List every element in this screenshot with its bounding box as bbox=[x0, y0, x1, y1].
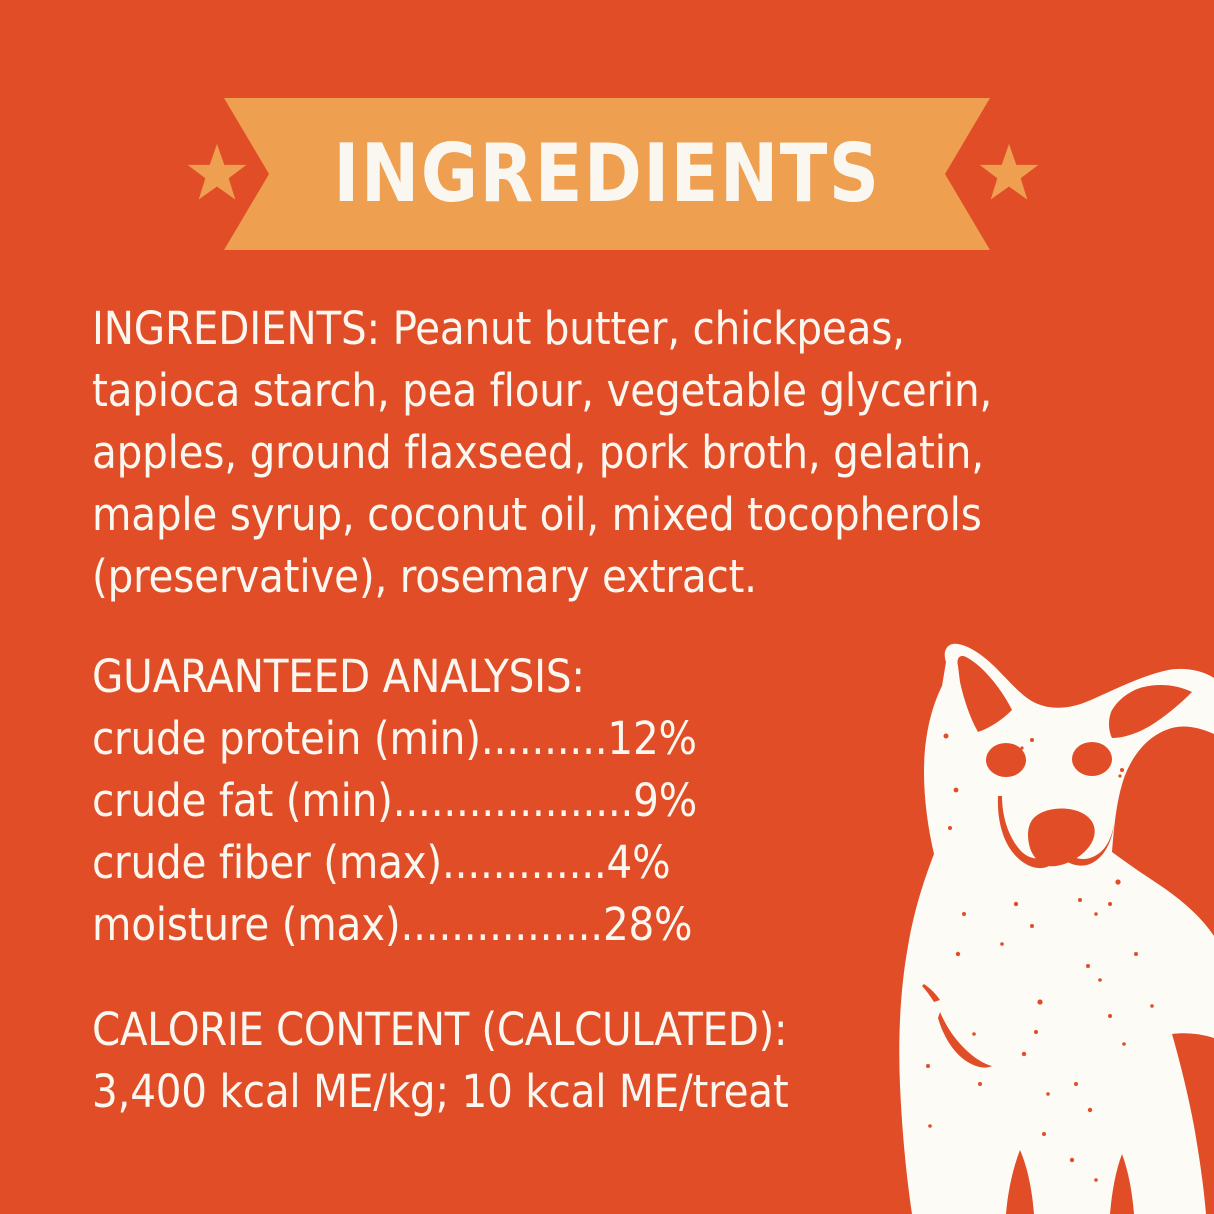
guaranteed-analysis-row: moisture (max)................28% bbox=[92, 902, 1082, 947]
guaranteed-analysis-row: crude fiber (max).............4% bbox=[92, 840, 1082, 885]
star-icon bbox=[186, 142, 248, 204]
star-icon bbox=[978, 142, 1040, 204]
label-text-content: INGREDIENTS: Peanut butter, chickpeas, t… bbox=[92, 306, 1082, 1114]
ingredients-line: tapioca starch, pea flour, vegetable gly… bbox=[92, 368, 1082, 413]
guaranteed-analysis-row: crude protein (min)..........12% bbox=[92, 716, 1082, 761]
ingredients-line: maple syrup, coconut oil, mixed tocopher… bbox=[92, 492, 1082, 537]
ingredients-line: apples, ground flaxseed, pork broth, gel… bbox=[92, 430, 1082, 475]
guaranteed-analysis-section: GUARANTEED ANALYSIS: crude protein (min)… bbox=[92, 654, 1082, 947]
calorie-content-section: CALORIE CONTENT (CALCULATED): 3,400 kcal… bbox=[92, 1007, 1082, 1114]
ingredients-section: INGREDIENTS: Peanut butter, chickpeas, t… bbox=[92, 306, 1082, 599]
calorie-content-value: 3,400 kcal ME/kg; 10 kcal ME/treat bbox=[92, 1069, 1082, 1114]
ingredients-line: (preservative), rosemary extract. bbox=[92, 554, 1082, 599]
ingredients-label-panel: INGREDIENTS bbox=[0, 0, 1214, 1214]
ingredients-line: INGREDIENTS: Peanut butter, chickpeas, bbox=[92, 306, 1082, 351]
calorie-content-heading: CALORIE CONTENT (CALCULATED): bbox=[92, 1007, 1082, 1052]
guaranteed-analysis-row: crude fat (min)...................9% bbox=[92, 778, 1082, 823]
guaranteed-analysis-heading: GUARANTEED ANALYSIS: bbox=[92, 654, 1082, 699]
